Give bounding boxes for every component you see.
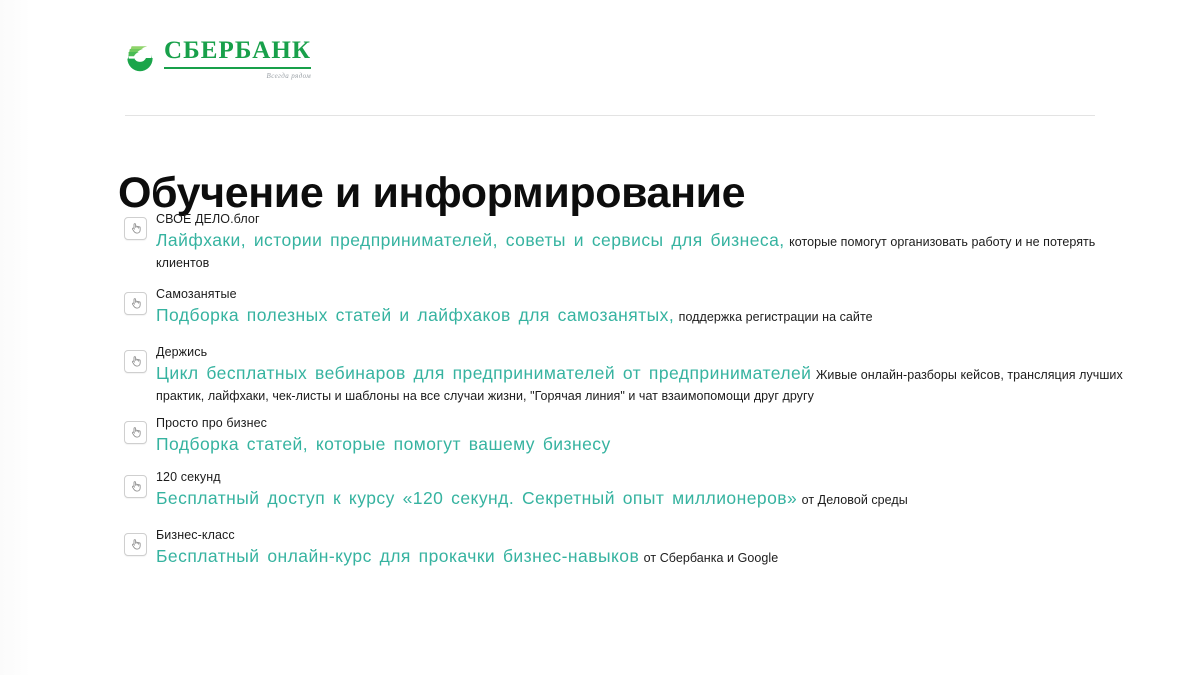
- list-item-body: Бесплатный онлайн-курс для прокачки бизн…: [156, 545, 1124, 568]
- pointing-hand-cursor-icon[interactable]: [124, 217, 147, 240]
- list-item-body: Цикл бесплатных вебинаров для предприним…: [156, 362, 1124, 407]
- offer-list: СВОЕ ДЕЛО.блог Лайфхаки, истории предпри…: [124, 212, 1124, 568]
- list-item[interactable]: Самозанятые Подборка полезных статей и л…: [124, 287, 1124, 327]
- list-item-label: Просто про бизнес: [156, 416, 1124, 432]
- pointing-hand-cursor-icon[interactable]: [124, 421, 147, 444]
- slide-header: СБЕРБАНК Всегда рядом: [125, 38, 1095, 116]
- list-item-body: Бесплатный доступ к курсу «120 секунд. С…: [156, 487, 1124, 510]
- list-item-headline[interactable]: Подборка полезных статей и лайфхаков для…: [156, 305, 674, 325]
- list-item-detail: от Сбербанка и Google: [644, 551, 779, 565]
- list-item-label: 120 секунд: [156, 470, 1124, 486]
- list-item-headline[interactable]: Цикл бесплатных вебинаров для предприним…: [156, 363, 811, 383]
- sberbank-tagline: Всегда рядом: [164, 72, 311, 80]
- pointing-hand-cursor-icon[interactable]: [124, 533, 147, 556]
- list-item-headline[interactable]: Бесплатный доступ к курсу «120 секунд. С…: [156, 488, 797, 508]
- list-item-headline[interactable]: Подборка статей, которые помогут вашему …: [156, 434, 611, 454]
- list-item-body: Лайфхаки, истории предпринимателей, сове…: [156, 229, 1124, 274]
- list-item-detail: поддержка регистрации на сайте: [679, 310, 873, 324]
- slide: СБЕРБАНК Всегда рядом Обучение и информи…: [0, 0, 1200, 675]
- list-item-label: Держись: [156, 345, 1124, 361]
- list-item-body: Подборка полезных статей и лайфхаков для…: [156, 304, 1124, 327]
- list-item-label: СВОЕ ДЕЛО.блог: [156, 212, 1124, 228]
- sberbank-logo-underline: [164, 67, 311, 69]
- slide-left-edge-band: [0, 0, 30, 675]
- sberbank-wordmark: СБЕРБАНК: [164, 38, 311, 66]
- sberbank-logo: СБЕРБАНК Всегда рядом: [125, 38, 1095, 80]
- list-item[interactable]: Держись Цикл бесплатных вебинаров для пр…: [124, 345, 1124, 406]
- header-divider: [125, 115, 1095, 116]
- list-item[interactable]: Бизнес-класс Бесплатный онлайн-курс для …: [124, 528, 1124, 568]
- sberbank-checkmark-icon: [125, 43, 155, 73]
- page-title: Обучение и информирование: [118, 172, 745, 215]
- list-item[interactable]: Просто про бизнес Подборка статей, котор…: [124, 416, 1124, 456]
- pointing-hand-cursor-icon[interactable]: [124, 475, 147, 498]
- list-item-label: Самозанятые: [156, 287, 1124, 303]
- list-item[interactable]: 120 секунд Бесплатный доступ к курсу «12…: [124, 470, 1124, 510]
- sberbank-logo-text: СБЕРБАНК Всегда рядом: [164, 38, 311, 80]
- list-item-detail: от Деловой среды: [802, 493, 908, 507]
- list-item-headline[interactable]: Бесплатный онлайн-курс для прокачки бизн…: [156, 546, 639, 566]
- list-item-label: Бизнес-класс: [156, 528, 1124, 544]
- list-item[interactable]: СВОЕ ДЕЛО.блог Лайфхаки, истории предпри…: [124, 212, 1124, 273]
- list-item-headline[interactable]: Лайфхаки, истории предпринимателей, сове…: [156, 230, 785, 250]
- pointing-hand-cursor-icon[interactable]: [124, 292, 147, 315]
- list-item-body: Подборка статей, которые помогут вашему …: [156, 433, 1124, 456]
- pointing-hand-cursor-icon[interactable]: [124, 350, 147, 373]
